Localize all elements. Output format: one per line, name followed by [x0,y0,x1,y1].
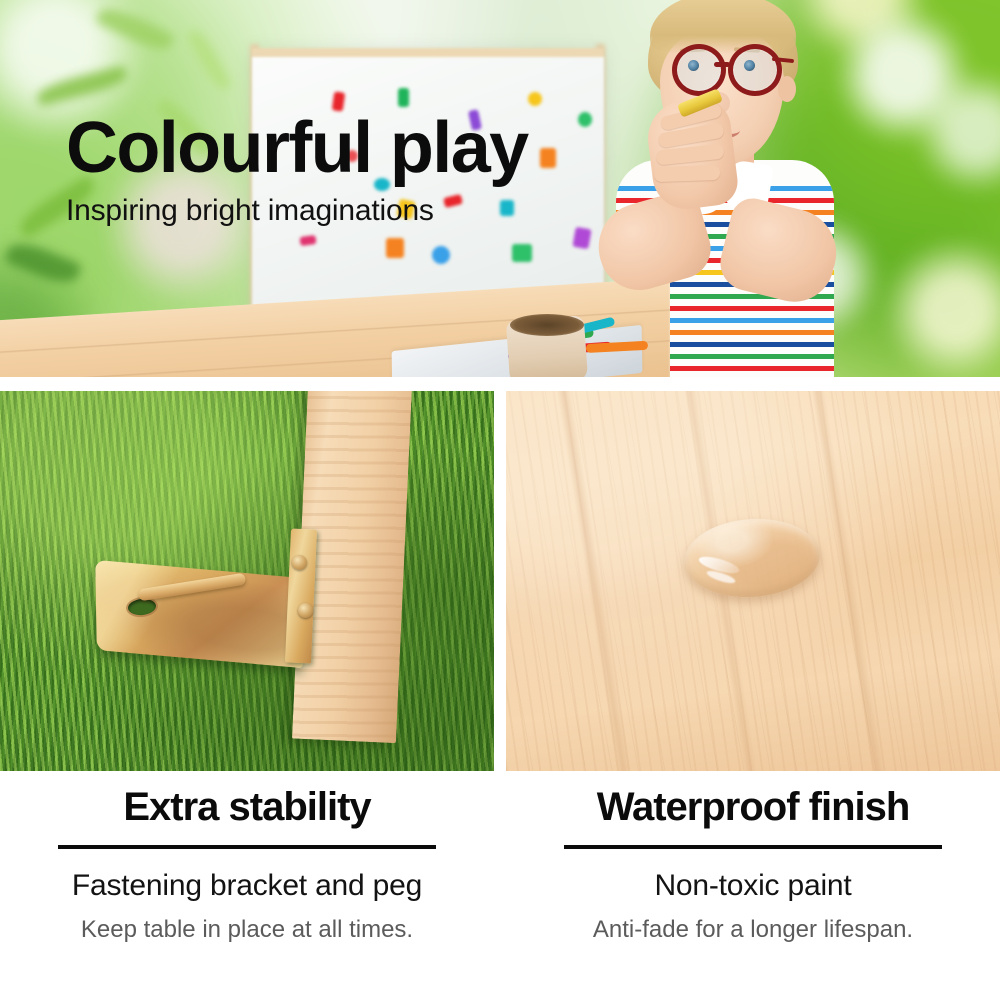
feature-subtitle: Non-toxic paint [506,869,1000,904]
hero-banner: Colourful play Inspiring bright imaginat… [0,0,1000,377]
screw [298,603,313,618]
hero-text-block: Colourful play Inspiring bright imaginat… [0,0,1000,377]
hero-subheadline: Inspiring bright imaginations [66,192,434,230]
feature-caption-extra-stability: Extra stability Fastening bracket and pe… [0,786,494,944]
fastening-bracket-base [95,560,303,668]
screw [292,555,307,570]
feature-title: Waterproof finish [506,786,1000,829]
feature-title: Extra stability [0,786,494,829]
feature-caption-waterproof-finish: Waterproof finish Non-toxic paint Anti-f… [506,786,1000,944]
feature-subtitle: Fastening bracket and peg [0,869,494,904]
feature-note: Anti-fade for a longer lifespan. [506,916,1000,945]
water-droplet-on-wood-photo [506,391,1000,771]
product-feature-infographic: Colourful play Inspiring bright imaginat… [0,0,1000,1000]
caption-divider-rule [564,845,942,849]
feature-note: Keep table in place at all times. [0,916,494,945]
caption-divider-rule [58,845,436,849]
hero-headline: Colourful play [66,112,528,184]
bracket-on-grass-photo [0,391,494,771]
